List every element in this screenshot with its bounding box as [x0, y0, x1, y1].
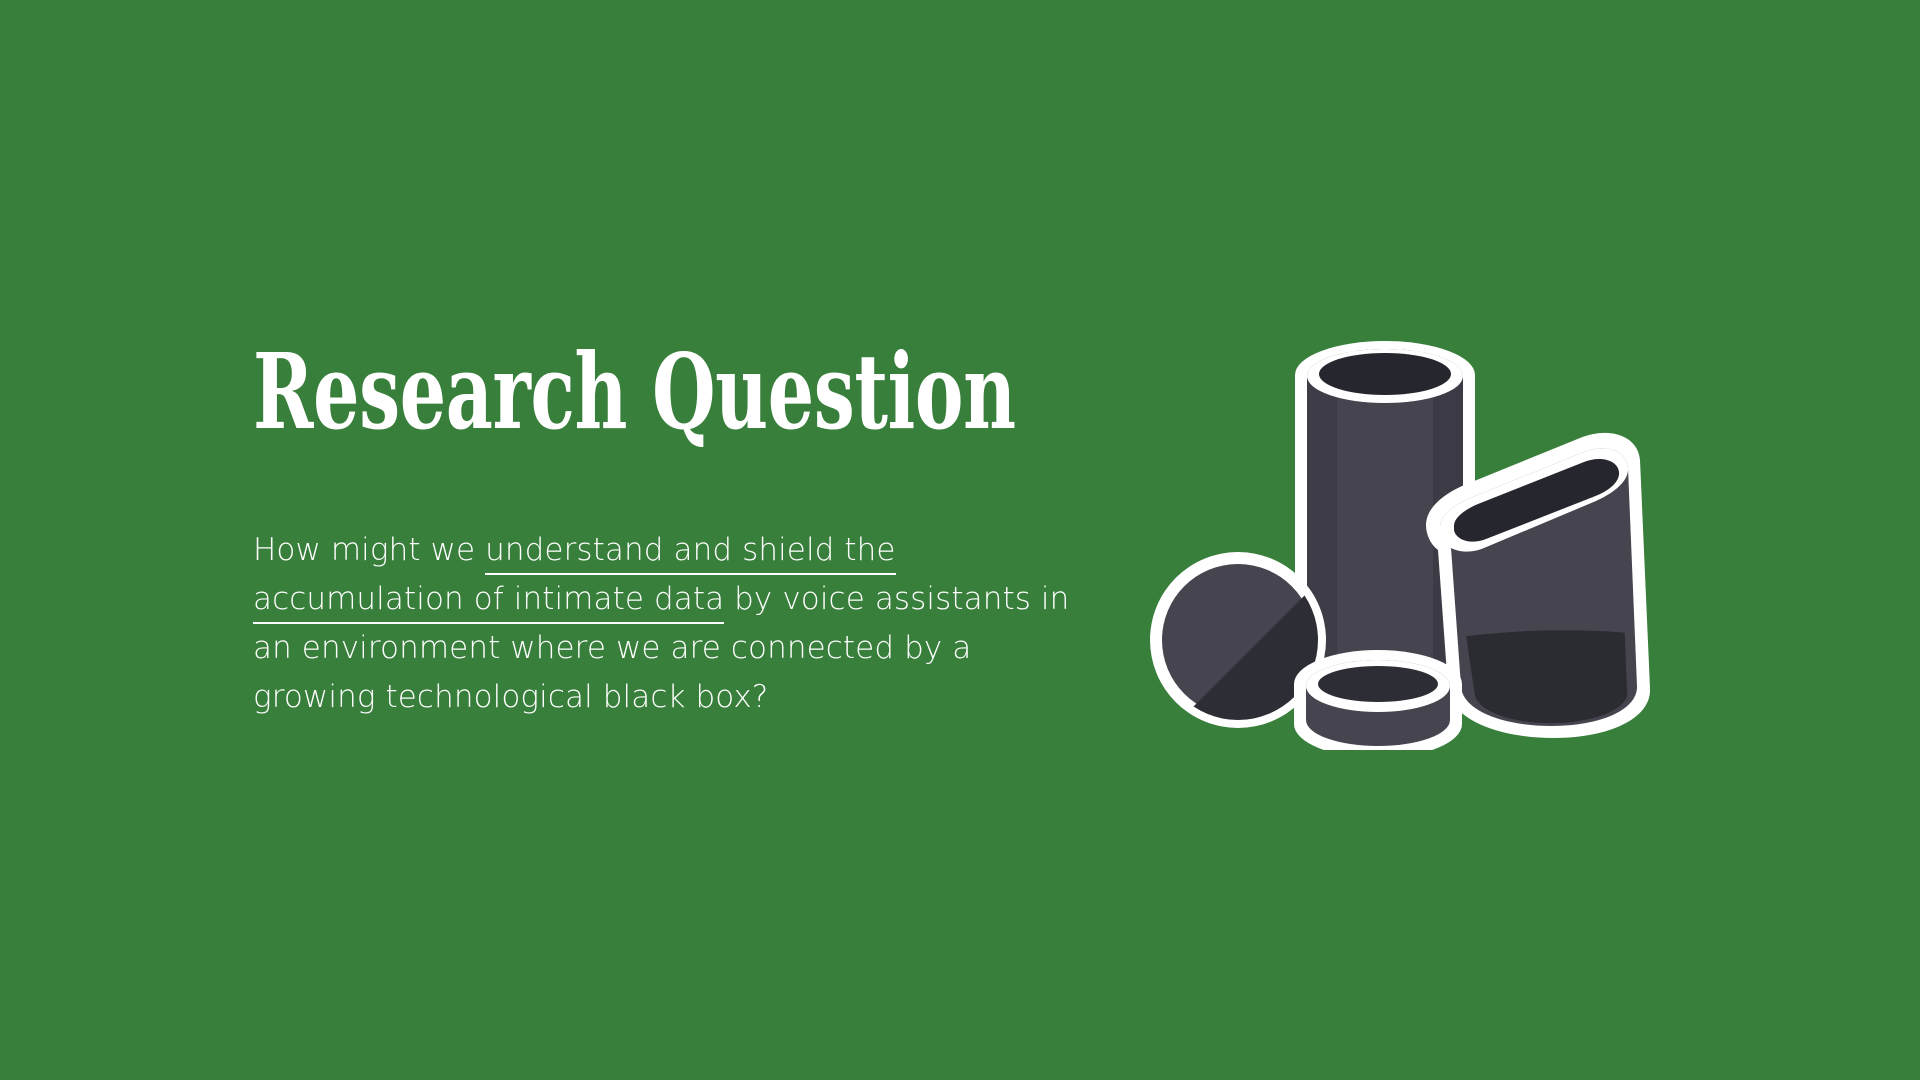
body-paragraph: How might we understand and shield the a… [253, 526, 1093, 722]
content-block: Research Question How might we understan… [253, 340, 1093, 444]
body-lead-text: How might we [253, 532, 485, 568]
slide-canvas: Research Question How might we understan… [0, 0, 1920, 1080]
low-puck-speaker [1294, 650, 1462, 750]
smart-speaker-cluster-illustration [1140, 320, 1685, 750]
page-title: Research Question [253, 340, 841, 444]
